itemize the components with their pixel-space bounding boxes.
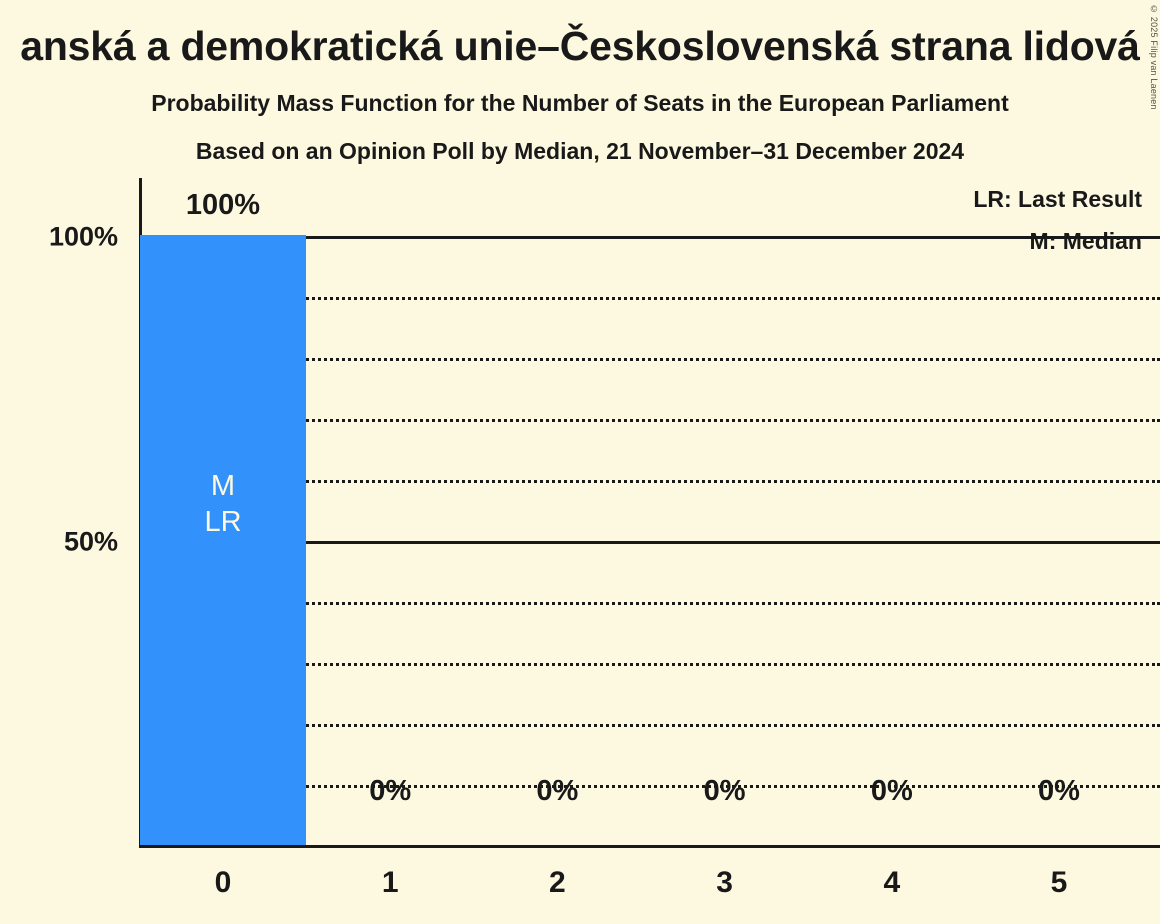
plot-area: MLR100%0%0%0%0%0% 100%50% bbox=[139, 178, 1160, 848]
x-axis-line bbox=[139, 845, 1160, 848]
bar-marker-group: MLR bbox=[140, 468, 306, 540]
chart-canvas: anská a demokratická unie–Československá… bbox=[0, 0, 1160, 924]
x-axis-label-4: 4 bbox=[809, 866, 975, 900]
page-title: anská a demokratická unie–Československá… bbox=[20, 18, 1140, 74]
value-label-5: 0% bbox=[976, 775, 1142, 808]
value-label-3: 0% bbox=[642, 775, 808, 808]
value-label-2: 0% bbox=[474, 775, 640, 808]
x-axis-label-0: 0 bbox=[140, 866, 306, 900]
x-axis-label-5: 5 bbox=[976, 866, 1142, 900]
chart-source-line: Based on an Opinion Poll by Median, 21 N… bbox=[0, 134, 1160, 168]
y-axis-tick-label-100pct: 100% bbox=[0, 222, 118, 253]
x-axis-label-1: 1 bbox=[307, 866, 473, 900]
y-axis-tick-label-50pct: 50% bbox=[0, 527, 118, 558]
chart-subtitle: Probability Mass Function for the Number… bbox=[0, 86, 1160, 120]
bar-marker-lr: LR bbox=[140, 504, 306, 540]
copyright-notice: © 2025 Filip van Laenen bbox=[1149, 4, 1159, 110]
x-axis-label-3: 3 bbox=[642, 866, 808, 900]
value-label-0: 100% bbox=[140, 189, 306, 222]
x-axis-label-2: 2 bbox=[474, 866, 640, 900]
value-label-1: 0% bbox=[307, 775, 473, 808]
chart-title-container: anská a demokratická unie–Československá… bbox=[0, 18, 1160, 76]
bar-marker-m: M bbox=[140, 468, 306, 504]
bar-0: MLR bbox=[140, 235, 306, 845]
value-label-4: 0% bbox=[809, 775, 975, 808]
